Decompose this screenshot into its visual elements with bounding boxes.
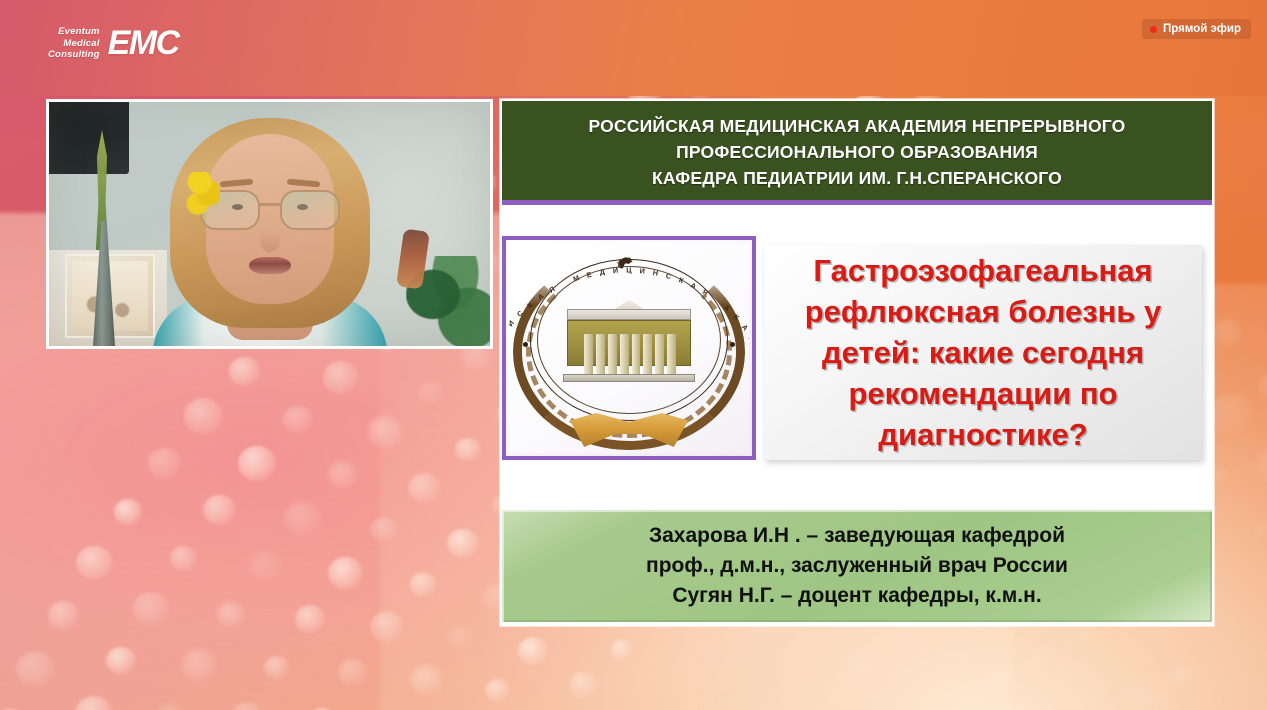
brand-logo: Eventum Medical Consulting EMC: [48, 26, 179, 61]
brand-logo-wordmark: Eventum Medical Consulting: [48, 26, 100, 61]
presenter-webcam-panel[interactable]: [46, 99, 493, 349]
academy-emblem-box: РОССИЙСКАЯ МЕДИЦИНСКАЯ АКАДЕМИЯ ПОСЛЕДИП…: [502, 236, 756, 460]
institution-line-2: ПРОФЕССИОНАЛЬНОГО ОБРАЗОВАНИЯ: [676, 139, 1038, 165]
brand-word-consulting: Consulting: [48, 49, 100, 61]
slide-title-box: Гастроэзофагеальная рефлюксная болезнь у…: [764, 245, 1202, 460]
live-dot-icon: [1150, 26, 1157, 33]
background-top-band: [0, 0, 1267, 96]
slide-authors-box: Захарова И.Н . – заведующая кафедрой про…: [502, 510, 1212, 622]
presentation-slide[interactable]: РОССИЙСКАЯ МЕДИЦИНСКАЯ АКАДЕМИЯ НЕПРЕРЫВ…: [500, 99, 1214, 626]
emblem-dot-right: [730, 342, 735, 347]
academy-emblem-icon: РОССИЙСКАЯ МЕДИЦИНСКАЯ АКАДЕМИЯ ПОСЛЕДИП…: [509, 243, 749, 453]
brand-word-eventum: Eventum: [48, 26, 100, 38]
live-badge-label: Прямой эфир: [1163, 23, 1241, 35]
emblem-building-body: [567, 320, 691, 366]
emblem-building-roof: [567, 309, 691, 320]
author-line-3: Сугян Н.Г. – доцент кафедры, к.м.н.: [672, 581, 1041, 611]
brand-word-medical: Medical: [48, 38, 100, 50]
brand-logo-emc-mark: EMC: [108, 26, 179, 60]
institution-line-3: КАФЕДРА ПЕДИАТРИИ ИМ. Г.Н.СПЕРАНСКОГО: [652, 165, 1062, 191]
emblem-building-base: [563, 374, 695, 382]
emblem-dot-left: [523, 342, 528, 347]
emblem-building-icon: [567, 309, 691, 375]
emblem-building-columns: [584, 334, 676, 376]
institution-line-1: РОССИЙСКАЯ МЕДИЦИНСКАЯ АКАДЕМИЯ НЕПРЕРЫВ…: [589, 113, 1126, 139]
slide-institution-header: РОССИЙСКАЯ МЕДИЦИНСКАЯ АКАДЕМИЯ НЕПРЕРЫВ…: [502, 101, 1212, 205]
slide-title: Гастроэзофагеальная рефлюксная болезнь у…: [778, 250, 1188, 455]
webcam-vignette: [49, 102, 490, 346]
webcam-video-frame: [49, 102, 490, 346]
author-line-2: проф., д.м.н., заслуженный врач России: [646, 551, 1068, 581]
author-line-1: Захарова И.Н . – заведующая кафедрой: [649, 521, 1065, 551]
live-broadcast-badge: Прямой эфир: [1142, 19, 1251, 39]
